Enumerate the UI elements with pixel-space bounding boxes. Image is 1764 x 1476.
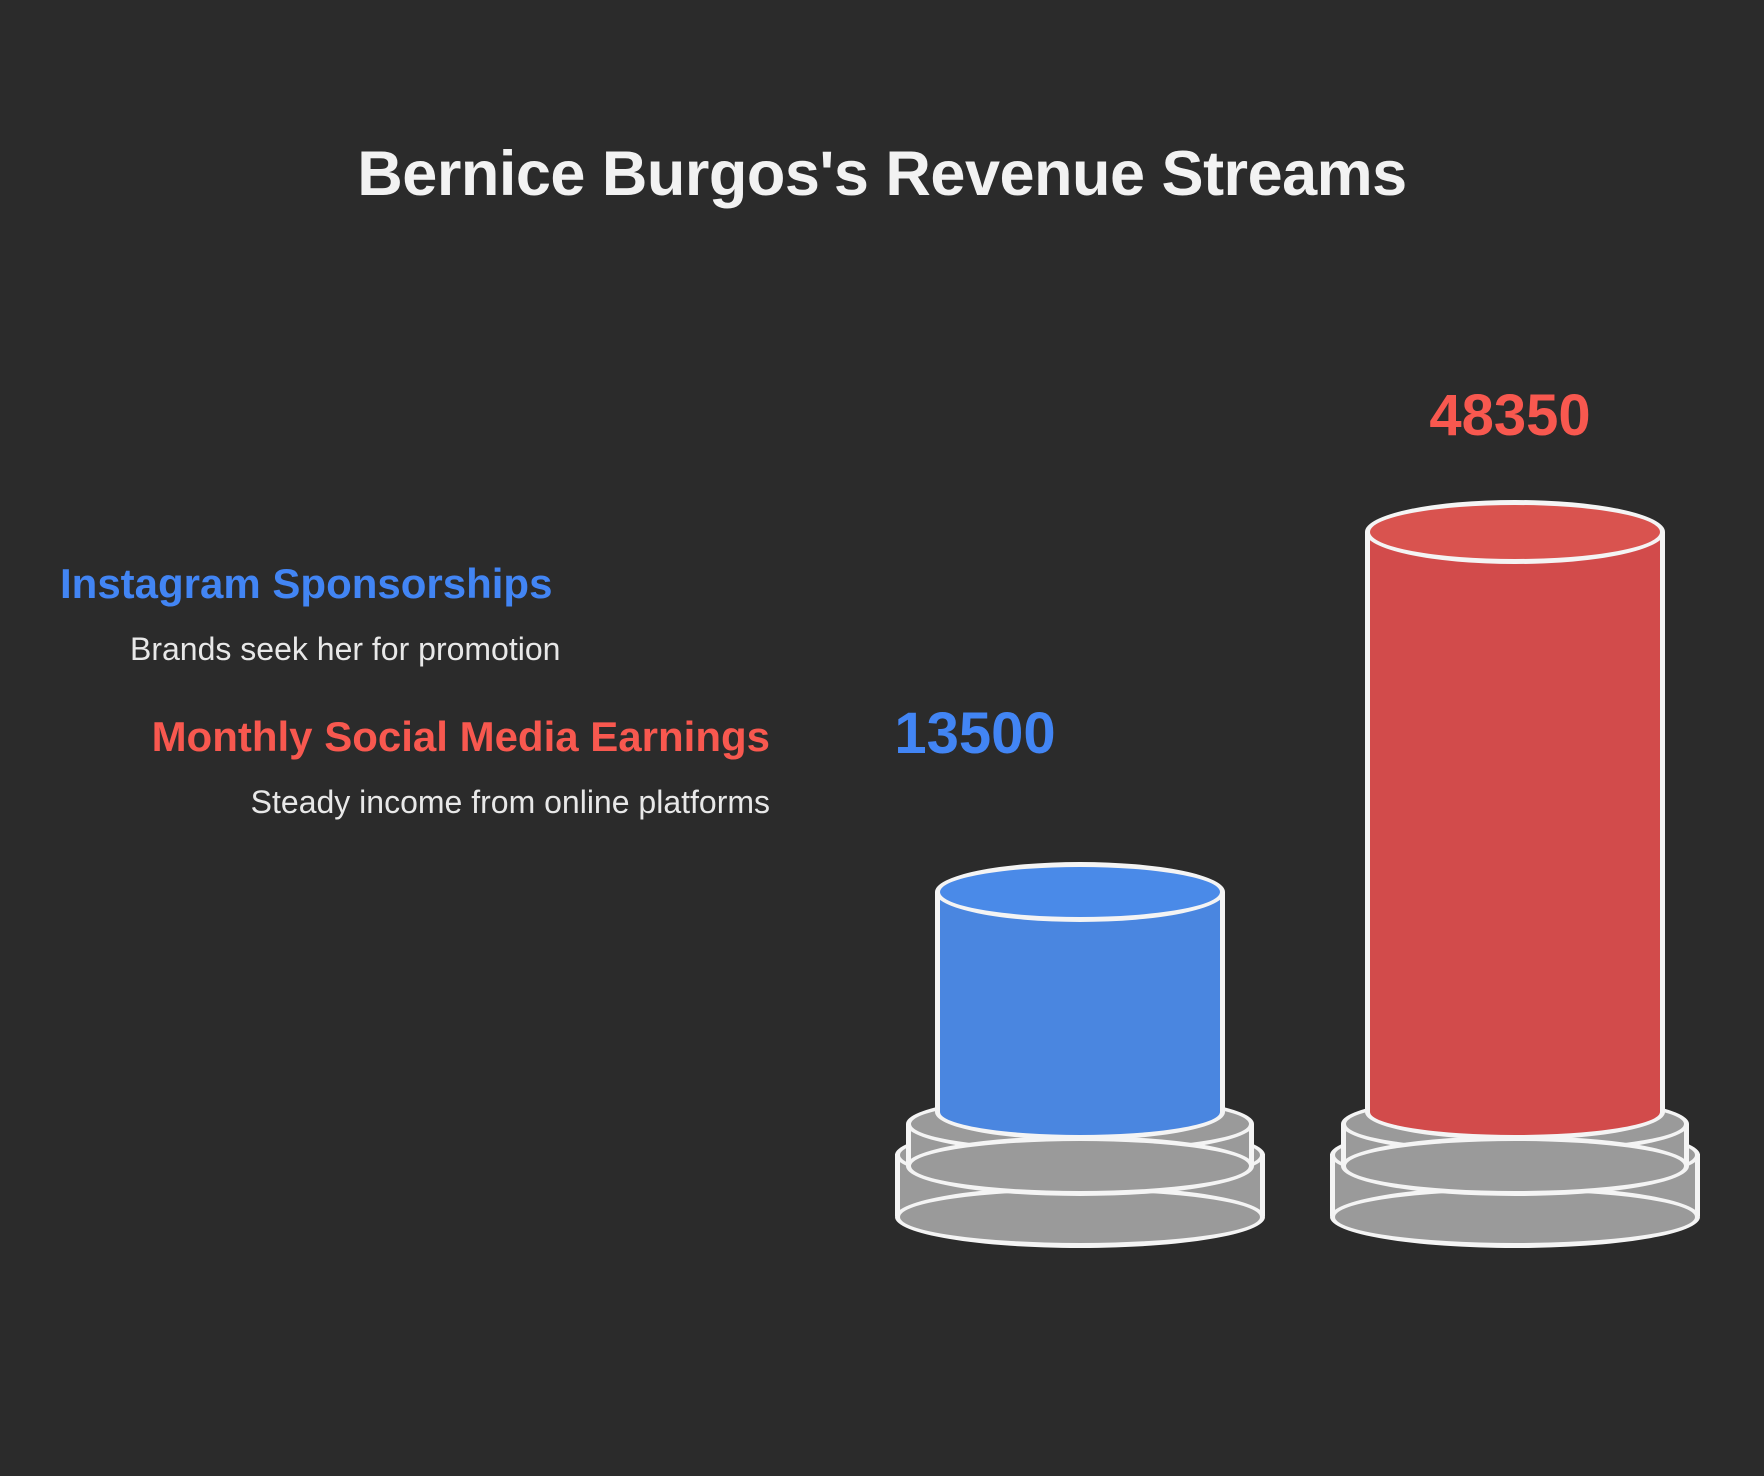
legend-item-monthly-social-media-earnings: Monthly Social Media Earnings Steady inc…: [60, 713, 770, 822]
pedestal-upper-bottom: [906, 1136, 1254, 1196]
pedestal-upper-bottom: [1341, 1136, 1689, 1196]
legend-description-instagram-sponsorships: Brands seek her for promotion: [60, 629, 770, 669]
infographic-canvas: Bernice Burgos's Revenue Streams Instagr…: [0, 0, 1764, 1476]
legend-column: Instagram Sponsorships Brands seek her f…: [60, 560, 770, 866]
bar-cylinder-monthly-social-media-earnings[interactable]: [1330, 500, 1700, 1257]
legend-heading-instagram-sponsorships: Instagram Sponsorships: [60, 560, 770, 607]
page-title: Bernice Burgos's Revenue Streams: [0, 138, 1764, 210]
cylinder-top-ellipse: [935, 862, 1225, 922]
bar-value-label-monthly-social-media-earnings: 48350: [1395, 382, 1625, 449]
legend-item-instagram-sponsorships: Instagram Sponsorships Brands seek her f…: [60, 560, 770, 669]
legend-heading-monthly-social-media-earnings: Monthly Social Media Earnings: [60, 713, 770, 760]
cylinder-body: [935, 892, 1225, 1112]
cylinder-top-ellipse: [1365, 500, 1665, 564]
cylinder-body: [1365, 532, 1665, 1112]
legend-description-monthly-social-media-earnings: Steady income from online platforms: [60, 782, 770, 822]
bar-cylinder-instagram-sponsorships[interactable]: [895, 862, 1265, 1257]
bar-value-label-instagram-sponsorships: 13500: [860, 700, 1090, 767]
